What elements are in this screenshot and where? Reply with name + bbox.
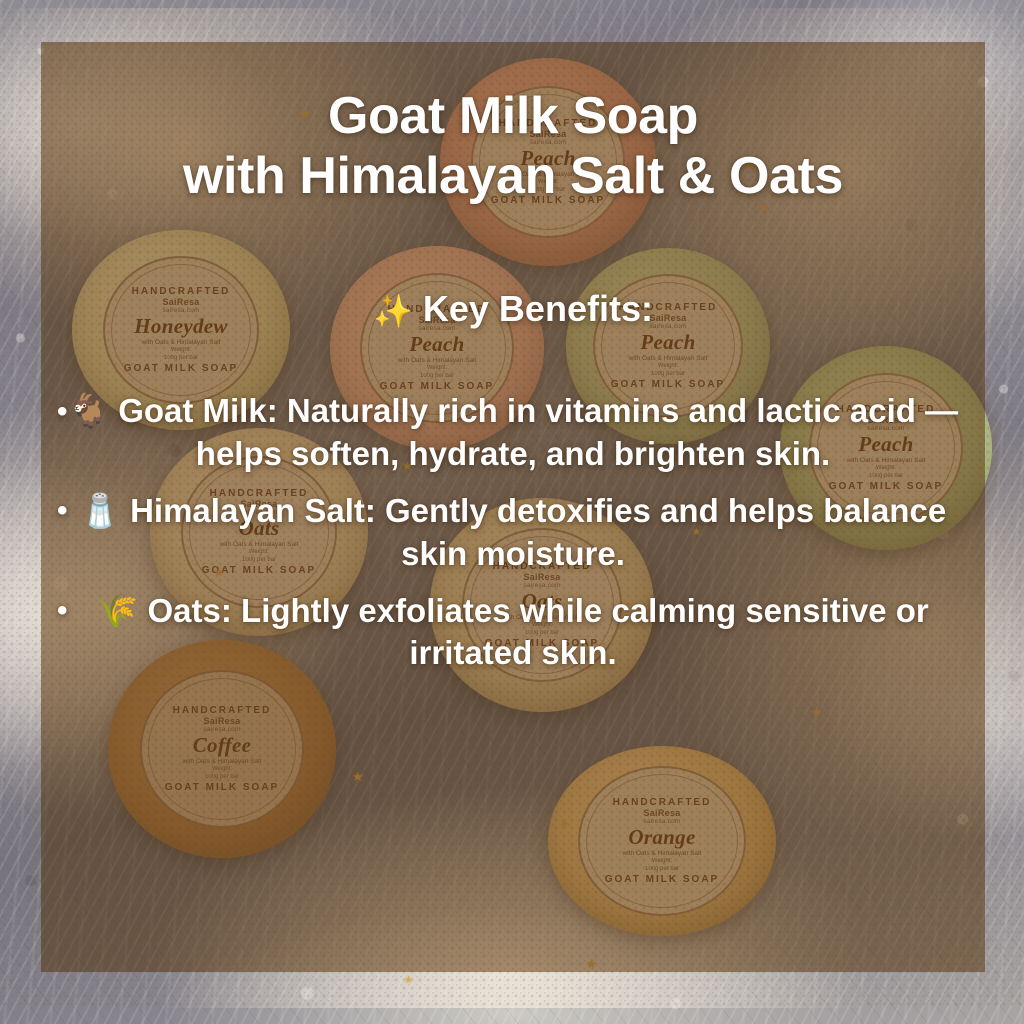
list-item: • 🌾 Oats: Lightly exfoliates while calmi…: [41, 590, 985, 690]
benefit-text: Oats: Lightly exfoliates while calming s…: [148, 592, 929, 672]
oats-emoji: 🌾: [97, 591, 138, 630]
text-overlay: Goat Milk Soap with Himalayan Salt & Oat…: [41, 42, 985, 972]
headline-line-1: Goat Milk Soap: [328, 87, 698, 145]
key-benefits-heading: ✨ Key Benefits:: [41, 288, 985, 330]
page-title: Goat Milk Soap with Himalayan Salt & Oat…: [41, 86, 985, 207]
benefits-list: • 🐐 Goat Milk: Naturally rich in vitamin…: [41, 390, 985, 689]
bullet-marker: •: [57, 397, 68, 427]
confetti-star-icon: ★: [404, 976, 413, 986]
list-item: • 🐐 Goat Milk: Naturally rich in vitamin…: [41, 390, 985, 490]
sparkles-icon: ✨: [373, 292, 413, 330]
headline-line-2: with Himalayan Salt & Oats: [41, 146, 985, 206]
salt-shaker-emoji: 🧂: [80, 491, 121, 530]
bullet-marker: •: [57, 596, 68, 626]
key-benefits-label: Key Benefits:: [423, 288, 653, 329]
benefit-text: Himalayan Salt: Gently detoxifies and he…: [130, 492, 946, 572]
bullet-marker: •: [57, 496, 68, 526]
benefit-text: Goat Milk: Naturally rich in vitamins an…: [118, 392, 958, 472]
list-item: • 🧂 Himalayan Salt: Gently detoxifies an…: [41, 490, 985, 590]
goat-emoji: 🐐: [68, 391, 109, 430]
poster-canvas: HANDCRAFTED SaiResa sairesa.com Honeydew…: [0, 0, 1024, 1024]
